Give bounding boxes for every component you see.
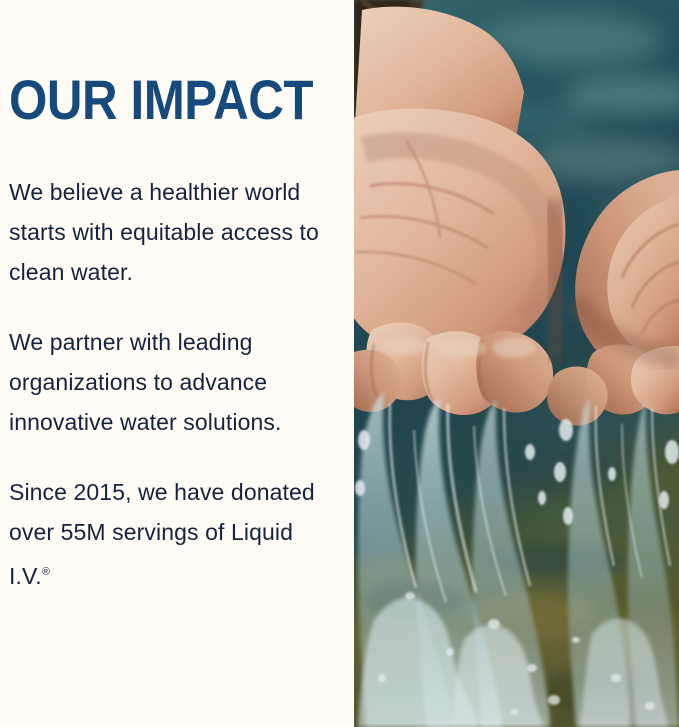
paragraph-donations-text: Since 2015, we have donated over 55M ser… bbox=[9, 479, 315, 589]
paragraph-mission-text: We believe a healthier world starts with… bbox=[9, 179, 319, 285]
paragraph-mission: We believe a healthier world starts with… bbox=[9, 172, 339, 292]
paragraph-partnerships: We partner with leading organizations to… bbox=[9, 322, 339, 442]
paragraph-donations: Since 2015, we have donated over 55M ser… bbox=[9, 472, 339, 596]
page-title: OUR IMPACT bbox=[9, 72, 313, 128]
our-impact-panel: OUR IMPACT We believe a healthier world … bbox=[0, 0, 679, 727]
hands-water-photo bbox=[354, 0, 679, 727]
registered-trademark-symbol: ® bbox=[42, 566, 50, 578]
text-column: OUR IMPACT We believe a healthier world … bbox=[0, 0, 354, 727]
body-copy: We believe a healthier world starts with… bbox=[9, 172, 339, 596]
paragraph-partnerships-text: We partner with leading organizations to… bbox=[9, 329, 281, 435]
